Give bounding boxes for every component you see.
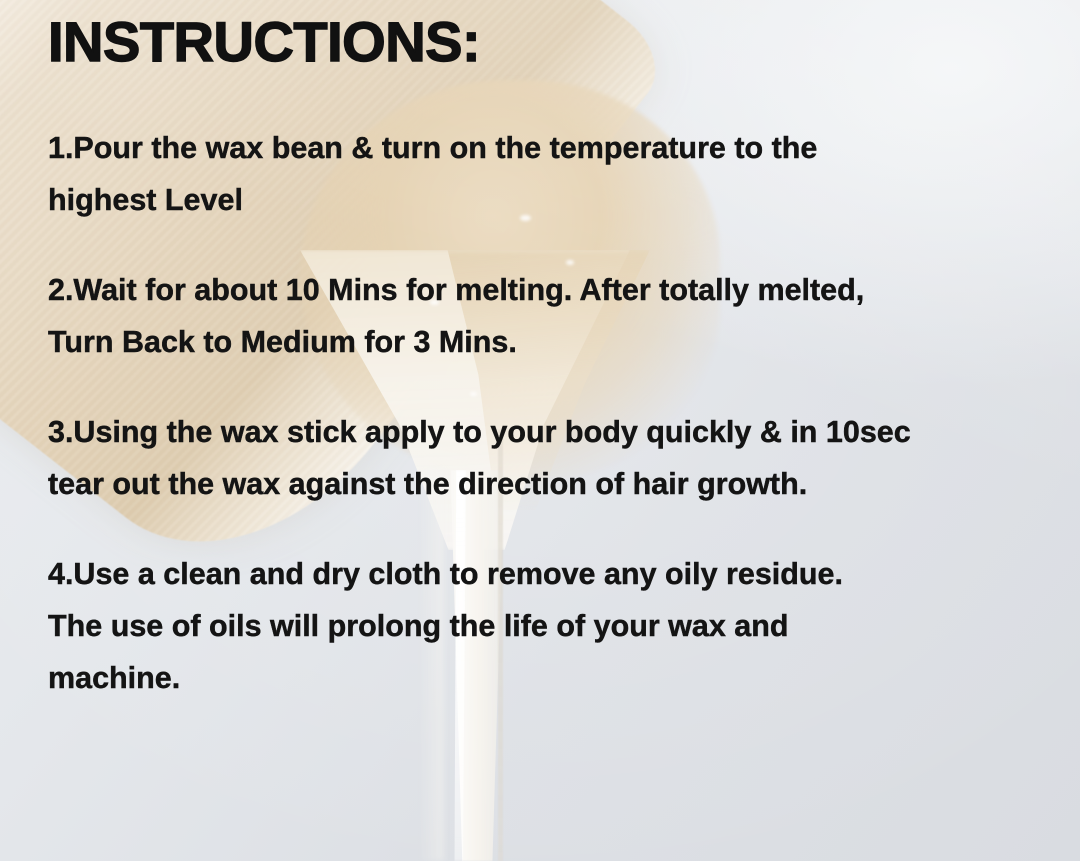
instructions-graphic: INSTRUCTIONS: 1.Pour the wax bean & turn… (0, 0, 1080, 861)
instruction-step-4: 4.Use a clean and dry cloth to remove an… (48, 548, 1058, 704)
page-title: INSTRUCTIONS: (48, 12, 480, 72)
instruction-step-3: 3.Using the wax stick apply to your body… (48, 406, 1058, 510)
instruction-list: 1.Pour the wax bean & turn on the temper… (48, 122, 1058, 704)
instruction-step-1: 1.Pour the wax bean & turn on the temper… (48, 122, 1058, 226)
text-overlay: INSTRUCTIONS: 1.Pour the wax bean & turn… (0, 0, 1080, 861)
instruction-step-2: 2.Wait for about 10 Mins for melting. Af… (48, 264, 1058, 368)
